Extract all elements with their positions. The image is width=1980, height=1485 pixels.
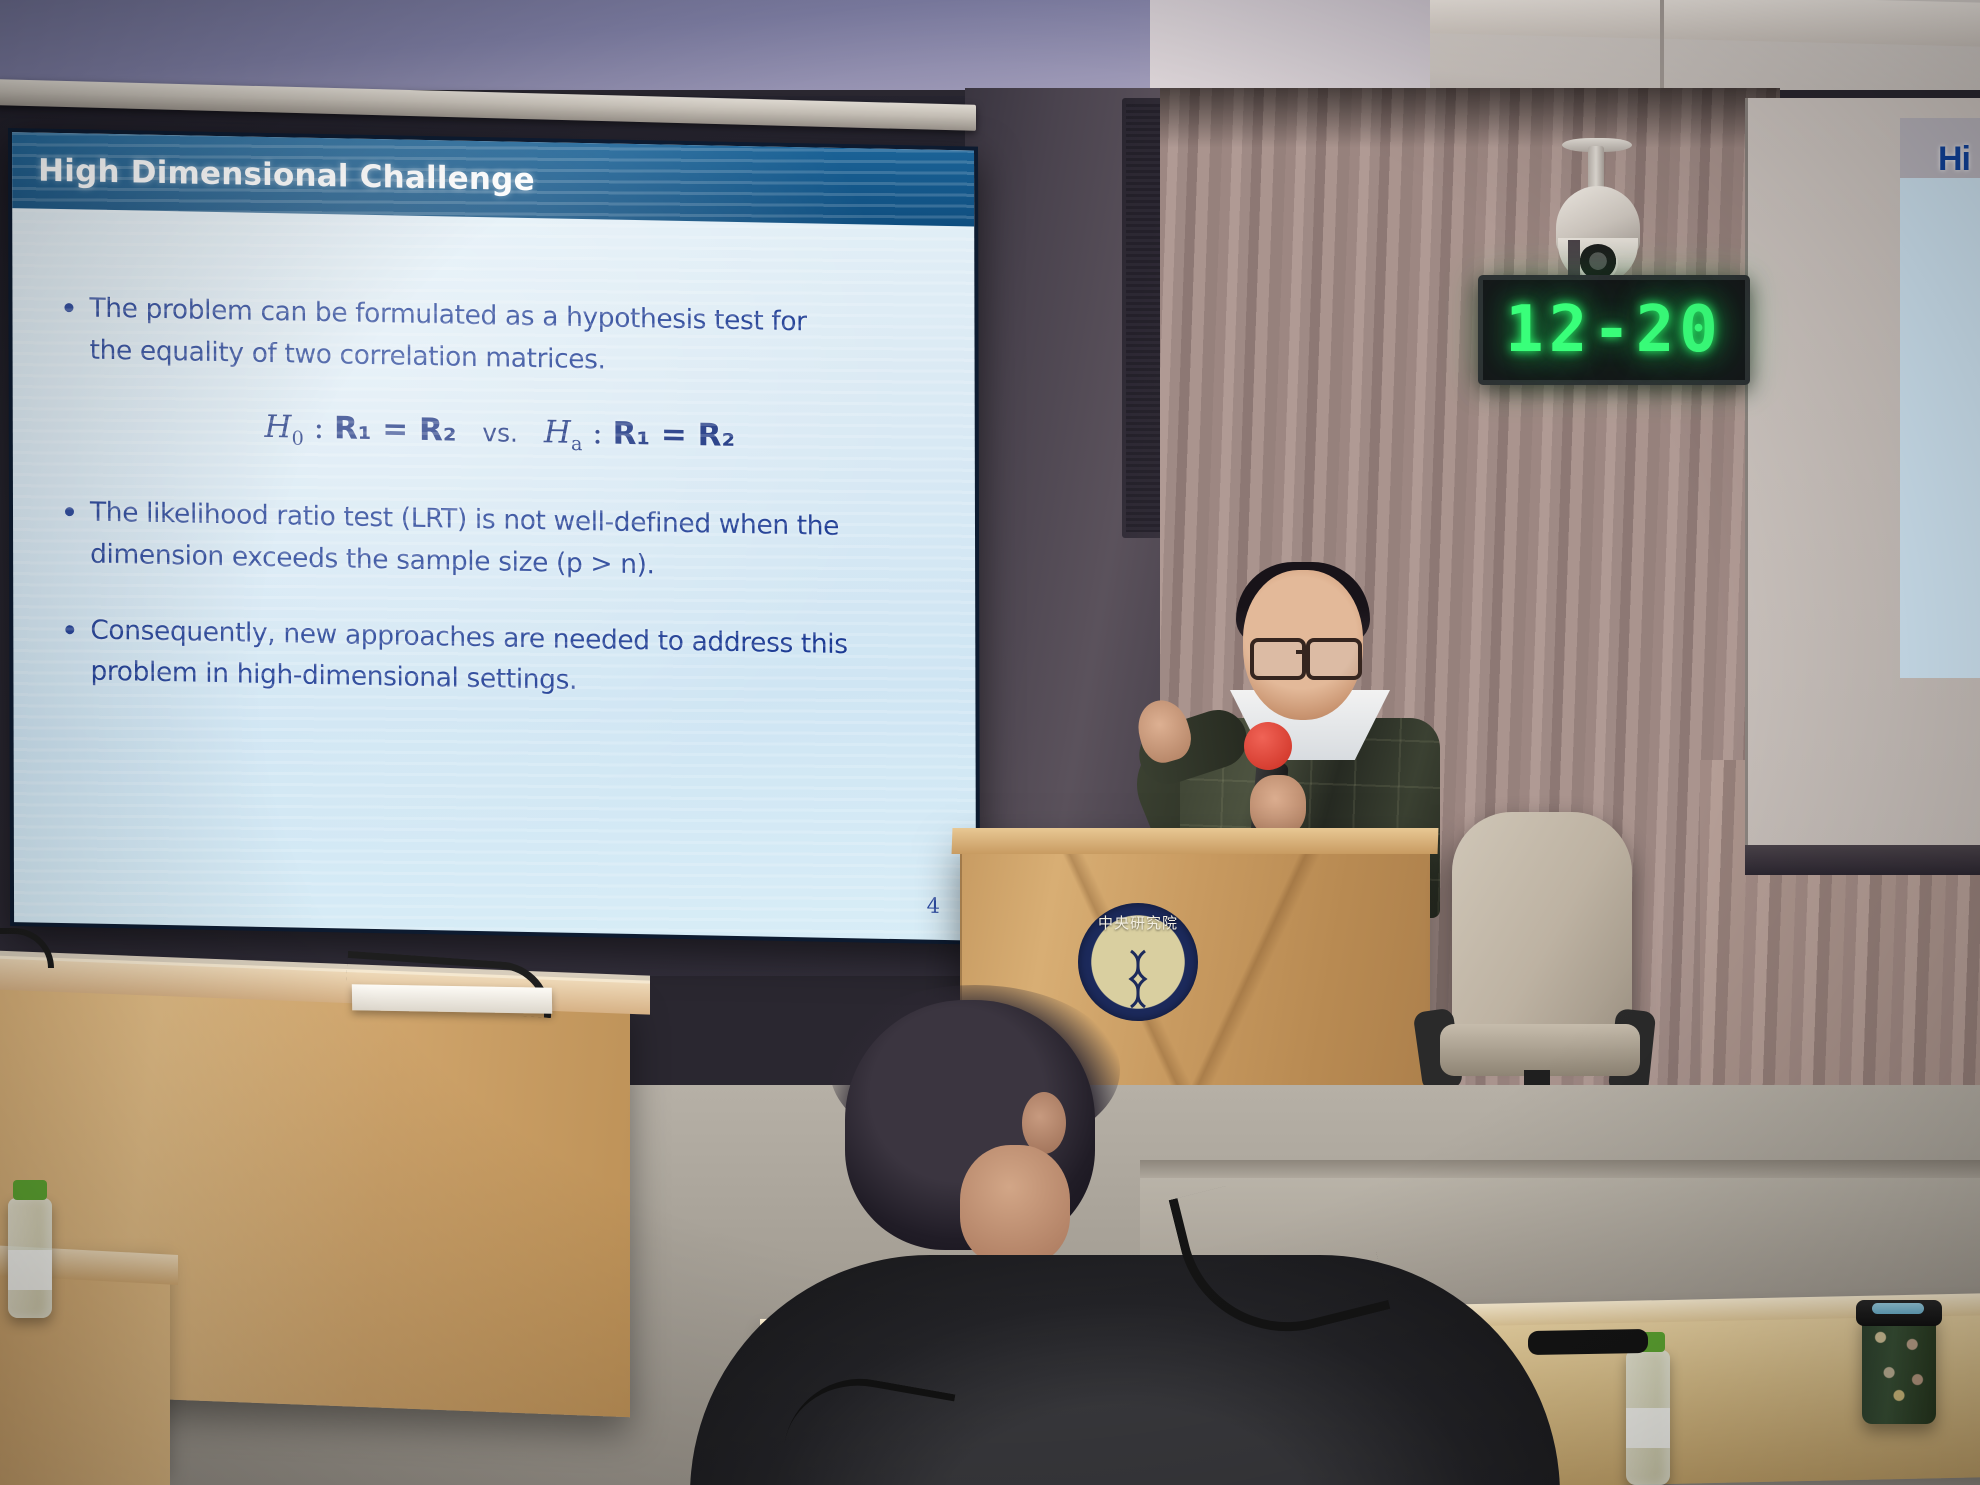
- bullet-text: Consequently, new approaches are needed …: [90, 609, 850, 707]
- office-chair-seat: [1440, 1024, 1640, 1076]
- bullet-text: The likelihood ratio test (LRT) is not w…: [90, 491, 850, 589]
- bottle-label: [8, 1250, 52, 1290]
- secondary-screen-bar: [1745, 845, 1980, 875]
- alt-hypothesis-label: H: [544, 414, 571, 451]
- clock-mount: [1568, 240, 1580, 280]
- handheld-mic-windscreen: [1244, 722, 1292, 770]
- bullet-text: The problem can be formulated as a hypot…: [89, 288, 849, 386]
- slide-bullet-1: The problem can be formulated as a hypot…: [64, 287, 934, 387]
- coffee-cup-lid: [1856, 1300, 1942, 1326]
- lectern-top: [952, 828, 1439, 854]
- null-hypothesis-sub: 0: [292, 426, 304, 449]
- audience-hand: [960, 1145, 1070, 1265]
- audience-shoulders: [690, 1255, 1560, 1485]
- bottle-label: [1626, 1408, 1670, 1448]
- secondary-slide: [1900, 118, 1980, 678]
- bullet-dot-icon: [64, 303, 73, 312]
- office-chair-back: [1452, 812, 1632, 1042]
- desk-nameplate: [352, 984, 552, 1014]
- formula-connector: vs.: [482, 418, 518, 448]
- slide-body: The problem can be formulated as a hypot…: [12, 208, 975, 710]
- presentation-slide: High Dimensional Challenge The problem c…: [12, 132, 976, 941]
- institution-emblem: 中央研究院: [1078, 903, 1198, 1021]
- slide-bullet-3: Consequently, new approaches are needed …: [65, 609, 935, 709]
- presenter-glasses-bridge: [1296, 650, 1310, 654]
- bullet-dot-icon: [65, 507, 74, 516]
- alt-hypothesis-expr: R₁ = R₂: [613, 415, 736, 453]
- hypothesis-formula: H0 : R₁ = R₂vs.Ha : R₁ = R₂: [65, 405, 935, 462]
- emblem-label: 中央研究院: [1078, 912, 1198, 933]
- coffee-cup: [1862, 1312, 1936, 1424]
- led-clock: 12-20: [1478, 275, 1750, 385]
- bottle-cap: [13, 1180, 47, 1200]
- clock-digits: 12-20: [1505, 293, 1723, 367]
- alt-hypothesis-sub: a: [571, 432, 583, 455]
- lecture-hall-photo: Hi 12-20 High Dimensional Challenge The …: [0, 0, 1980, 1485]
- dna-helix-icon: [1127, 949, 1149, 1009]
- bullet-dot-icon: [65, 625, 74, 634]
- foreground-microphone-base: [1528, 1329, 1648, 1355]
- null-hypothesis-expr: R₁ = R₂: [334, 410, 457, 448]
- slide-bullet-2: The likelihood ratio test (LRT) is not w…: [65, 491, 935, 591]
- audience-ear: [1022, 1092, 1066, 1154]
- secondary-slide-title: Hi: [1938, 140, 1970, 179]
- presenter-glasses-left-lens: [1250, 638, 1306, 680]
- curtain-shadow: [1160, 88, 1780, 148]
- presenter-glasses-right-lens: [1306, 638, 1362, 680]
- null-hypothesis-label: H: [264, 409, 291, 446]
- slide-title: High Dimensional Challenge: [38, 153, 535, 199]
- main-projection-screen: High Dimensional Challenge The problem c…: [8, 128, 980, 945]
- slide-page-number: 4: [927, 894, 940, 918]
